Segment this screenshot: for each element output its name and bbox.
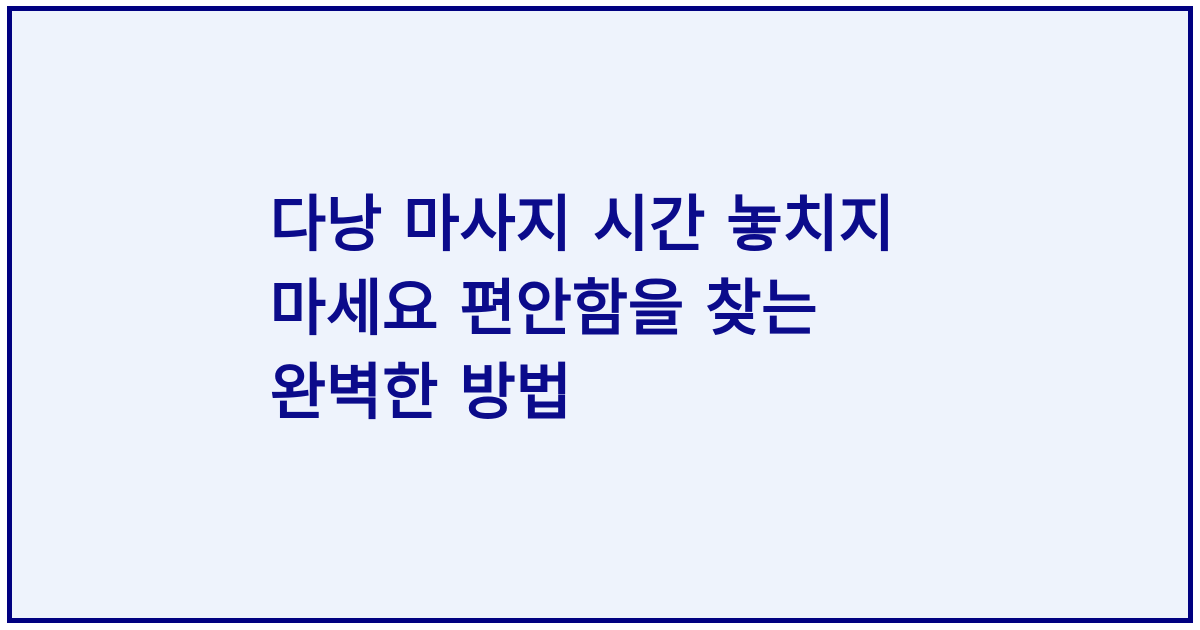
og-image-card: 다낭 마사지 시간 놓치지 마세요 편안함을 찾는 완벽한 방법: [7, 6, 1193, 623]
headline-block: 다낭 마사지 시간 놓치지 마세요 편안함을 찾는 완벽한 방법: [12, 183, 1188, 435]
page-title: 다낭 마사지 시간 놓치지 마세요 편안함을 찾는 완벽한 방법: [270, 183, 942, 435]
